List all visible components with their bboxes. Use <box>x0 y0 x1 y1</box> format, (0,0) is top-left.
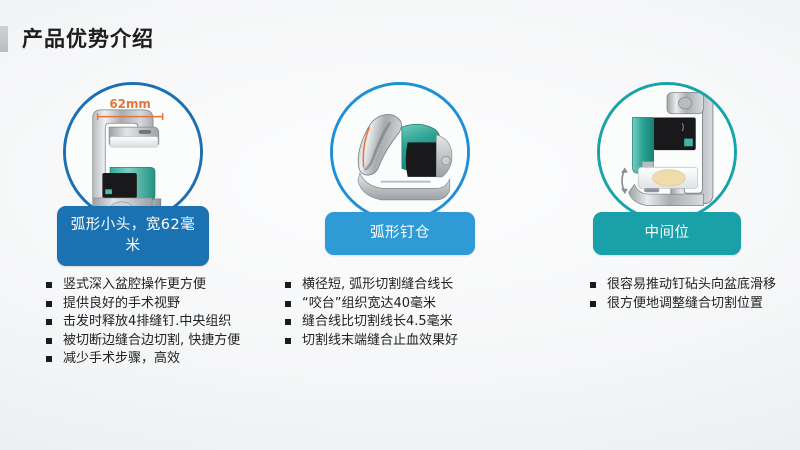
list-item: 减少手术步骤，高效 <box>46 350 271 368</box>
curved-cartridge-photo <box>333 85 467 219</box>
svg-text:62mm: 62mm <box>109 97 151 111</box>
feature-column-1: 62mm 弧形小头，宽62毫米 竖式深入盆腔操作更方便 提供良好的手术视野 击发… <box>0 80 266 400</box>
list-item: “咬台”组织宽达40毫米 <box>285 295 520 313</box>
feature-bullets-2: 横径短, 弧形切割缝合线长 “咬台”组织宽达40毫米 缝合线比切割线长4.5毫米… <box>285 276 520 350</box>
page-title-text: 产品优势介绍 <box>22 26 154 52</box>
feature-image-2 <box>330 82 470 222</box>
content-columns: 62mm 弧形小头，宽62毫米 竖式深入盆腔操作更方便 提供良好的手术视野 击发… <box>0 80 800 400</box>
feature-column-3: 中间位 很容易推动钉砧头向盆底滑移 很方便地调整缝合切割位置 <box>534 80 800 400</box>
image-circle-frame-1: 62mm <box>63 82 203 222</box>
list-item: 很方便地调整缝合切割位置 <box>590 295 790 313</box>
feature-caption-1: 弧形小头，宽62毫米 <box>57 206 209 266</box>
list-item: 缝合线比切割线长4.5毫米 <box>285 313 520 331</box>
image-circle-frame-3 <box>597 82 737 222</box>
list-item: 提供良好的手术视野 <box>46 295 271 313</box>
list-item: 很容易推动钉砧头向盆底滑移 <box>590 276 790 294</box>
feature-caption-3: 中间位 <box>593 212 741 255</box>
list-item: 竖式深入盆腔操作更方便 <box>46 276 271 294</box>
page-title: 产品优势介绍 <box>0 24 154 54</box>
feature-image-3 <box>597 82 737 222</box>
feature-bullets-1: 竖式深入盆腔操作更方便 提供良好的手术视野 击发时释放4排缝钉.中央组织 被切断… <box>46 276 271 369</box>
image-circle-frame-2 <box>330 82 470 222</box>
feature-image-1: 62mm <box>63 82 203 222</box>
stapler-head-photo: 62mm <box>66 85 200 219</box>
middle-position-photo <box>600 85 734 219</box>
slide-root: 产品优势介绍 <box>0 0 800 450</box>
list-item: 横径短, 弧形切割缝合线长 <box>285 276 520 294</box>
title-accent-bar <box>0 26 8 52</box>
feature-bullets-3: 很容易推动钉砧头向盆底滑移 很方便地调整缝合切割位置 <box>590 276 790 313</box>
list-item: 被切断边缝合边切割, 快捷方便 <box>46 332 271 350</box>
feature-column-2: 弧形钉仓 横径短, 弧形切割缝合线长 “咬台”组织宽达40毫米 缝合线比切割线长… <box>267 80 533 400</box>
list-item: 切割线末端缝合止血效果好 <box>285 332 520 350</box>
feature-caption-2: 弧形钉仓 <box>325 212 475 255</box>
list-item: 击发时释放4排缝钉.中央组织 <box>46 313 271 331</box>
